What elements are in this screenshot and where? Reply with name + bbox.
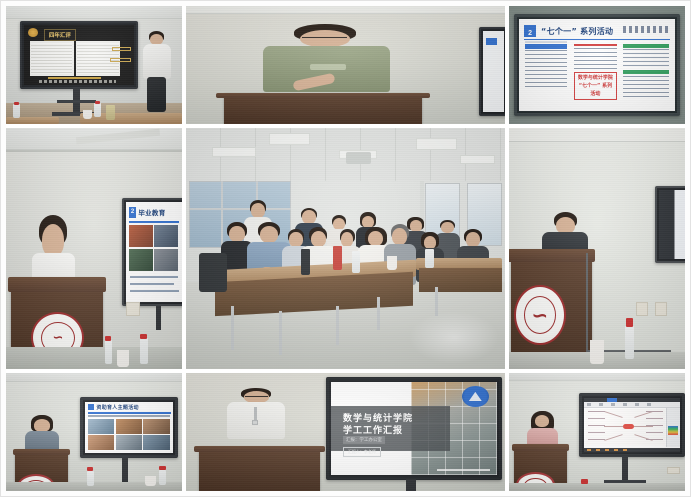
slide-title: “七个一” 系列活动 [541, 26, 613, 37]
projector [346, 152, 372, 164]
slide-col-left-header [525, 44, 567, 49]
wall-outlet [667, 467, 679, 474]
scene-title-slide-and-student: 数学与统计学院 学工工作汇报 汇报：学工办公室 汇报人：李老师 [186, 373, 505, 491]
collage-photo-bottom-left[interactable]: 资助育人主题活动 [6, 373, 182, 491]
slide-col-center-body [574, 48, 618, 70]
app-window-mindmap [584, 398, 680, 452]
tv-screen: 资助育人主题活动 [85, 402, 174, 453]
slide-title: 资助育人主题活动 [96, 404, 138, 411]
slide-side-label-2 [110, 58, 131, 62]
emblem-mark: ∽ [52, 330, 63, 345]
slide-number-chip [88, 404, 94, 410]
slide-number-chip: 2 [524, 25, 536, 37]
activity-photo-1 [88, 419, 114, 434]
tv-display: 2 “七个一” 系列活动 数学与统计学院 [514, 14, 679, 115]
scene-female-speaker [186, 6, 505, 124]
collage-photo-top-left[interactable]: 四年汇评 [6, 6, 182, 124]
lectern [224, 93, 422, 124]
slide-title: 毕业教育 [138, 207, 165, 217]
emblem-mark: ∽ [531, 303, 548, 327]
tv-display: 四年汇评 [20, 21, 138, 88]
head [42, 224, 65, 257]
activity-photo-2 [116, 419, 142, 434]
tv-display: 2 毕业教育 [122, 198, 182, 306]
scene-mindmap-presentation [509, 373, 685, 491]
lanyard [254, 407, 257, 420]
lectern-top [13, 449, 70, 456]
slide-center-callout-text: 数学与统计学院“七个一” 系列活动 [574, 74, 618, 98]
water-bottle [625, 326, 634, 360]
power-cable [586, 253, 588, 354]
slide-bullet-1 [130, 276, 178, 278]
water-bottle-2 [159, 470, 166, 485]
ceiling-light-2 [269, 133, 310, 145]
activity-photo-4 [88, 435, 114, 450]
collage-photo-top-center[interactable] [186, 6, 505, 124]
floor [509, 483, 685, 491]
thermos-2 [333, 246, 343, 270]
app-color-swatches [668, 426, 679, 435]
tv-screen: 2 “七个一” 系列活动 数学与统计学院 [519, 19, 674, 110]
side-display [655, 186, 685, 263]
bottle-cap-2 [140, 334, 146, 339]
side-display-screen [659, 190, 685, 259]
head [34, 419, 50, 431]
lectern-top [216, 93, 430, 98]
tv-screen: 四年汇评 [24, 25, 134, 84]
tv-display: 资助育人主题活动 [80, 397, 179, 458]
slide-col-right-body2 [623, 76, 668, 100]
head [392, 228, 407, 245]
paper-cup [117, 350, 129, 367]
glasses-icon [302, 37, 347, 40]
bottle-cap-1 [87, 467, 93, 471]
collage-photo-middle-left[interactable]: 2 毕业教育 [6, 128, 182, 369]
head [535, 415, 549, 427]
collage-photo-bottom-center[interactable]: 数学与统计学院 学工工作汇报 汇报：学工办公室 汇报人：李老师 [186, 373, 505, 491]
head [341, 232, 354, 247]
lectern-top [194, 446, 325, 452]
collage-photo-center-group[interactable] [186, 128, 505, 369]
college-emblem: ∽ [514, 285, 566, 345]
collage-photo-bottom-right[interactable] [509, 373, 685, 491]
slide-photo-2 [154, 225, 178, 247]
glasses-icon [245, 396, 268, 398]
mindmap-center-node [623, 424, 634, 429]
slide-dark-table: 四年汇评 [24, 25, 134, 84]
tv-stand-pole [406, 479, 416, 491]
side-display-screen [483, 31, 504, 112]
slide-footer-strip [48, 77, 101, 79]
app-toolbar-icons [587, 403, 654, 406]
collage-photo-middle-right[interactable]: ∽ [509, 128, 685, 369]
slide-side-label-1 [112, 47, 131, 51]
bottle-cap [581, 479, 588, 484]
table-leg-2 [279, 311, 282, 354]
head [260, 226, 279, 243]
shirt-print [310, 64, 346, 70]
side-display-sliver [479, 27, 505, 116]
cup-a [387, 256, 397, 270]
wall-outlet-1 [636, 302, 648, 316]
collage-grid: 四年汇评 [6, 6, 685, 491]
slide-col-right-header [623, 44, 668, 48]
head [424, 236, 437, 249]
center-rule-red [574, 44, 618, 46]
ceiling-light-5 [460, 155, 495, 165]
app-statusbar-icons [587, 449, 627, 451]
scene-dark-shirt-speaker: ∽ [509, 128, 685, 369]
lectern-top [8, 277, 107, 292]
table-leg-5 [435, 287, 438, 316]
slide-header-text: 四年汇评 [44, 29, 76, 41]
scene-seven-ones-slide: 2 “七个一” 系列活动 数学与统计学院 [509, 6, 685, 124]
scene-meeting-room-group [186, 128, 505, 369]
lectern: ∽ [511, 249, 592, 370]
head [302, 210, 316, 223]
wall-outlet-2 [655, 302, 667, 316]
head [311, 231, 326, 247]
scene-classroom-dark-slide: 四年汇评 [6, 6, 182, 124]
bottle-cap-2 [95, 101, 101, 104]
scene-activity-photos-slide: 资助育人主题活动 [6, 373, 182, 491]
tv-screen [584, 398, 680, 452]
slide-seven-ones: 2 “七个一” 系列活动 数学与统计学院 [519, 19, 674, 110]
slide-col-right-body1 [623, 49, 668, 67]
mindmap-branch-left-2 [604, 426, 623, 427]
floor [6, 347, 182, 369]
slide-col-right-header2 [623, 70, 668, 74]
tv-display: 数学与统计学院 学工工作汇报 汇报：学工办公室 汇报人：李老师 [326, 377, 501, 481]
lectern [199, 446, 320, 491]
mindmap-labels-right [646, 411, 663, 442]
paper-cup [83, 110, 92, 119]
tv-mount [156, 306, 161, 330]
slide-number-chip: 2 [129, 207, 136, 218]
slide-footer-en [437, 469, 490, 471]
torso-white-shirt [143, 44, 171, 79]
ceiling-light-4 [416, 138, 457, 150]
activity-photo-3 [143, 419, 170, 434]
ceiling [509, 373, 685, 381]
water-bottle-2 [140, 338, 148, 365]
ceiling [6, 6, 182, 19]
bottle-cap-1 [105, 336, 111, 341]
bottle-cap-1 [14, 102, 20, 105]
bottle-cap-2 [159, 466, 165, 470]
head [251, 203, 265, 218]
badge [252, 420, 259, 425]
conference-table-right-panel [419, 268, 502, 292]
ceiling [509, 128, 685, 142]
slide-col-left-note [525, 41, 567, 43]
tv-stand-pole [122, 458, 128, 484]
water-bottle-1 [13, 104, 20, 118]
slide-caption [88, 415, 169, 417]
slide-photo-3 [129, 249, 152, 271]
water-bottle-b [425, 249, 433, 268]
water-bottle-a [352, 251, 360, 273]
table-leg-3 [336, 306, 339, 345]
floor-reflection [409, 311, 498, 364]
floor [6, 482, 182, 491]
water-bottle-2 [94, 103, 101, 117]
university-logo [623, 26, 670, 33]
paper-cup [590, 340, 604, 364]
mindmap-labels-left [588, 411, 605, 442]
water-bottle-1 [87, 471, 94, 486]
ceiling [6, 373, 182, 382]
title-underline [129, 221, 179, 223]
slide-presenter-tag: 汇报人：李老师 [343, 447, 381, 457]
activity-photo-6 [143, 435, 170, 450]
slide-col-left-body [525, 50, 567, 88]
slide-title-line1: 数学与统计学院 [343, 411, 413, 424]
tv-display [579, 393, 685, 457]
slide-footer-text [39, 80, 116, 83]
table-leg-4 [377, 297, 380, 331]
tv-screen: 2 毕业教育 [126, 202, 181, 302]
slide-photo-4 [154, 249, 178, 271]
ceiling [186, 6, 505, 14]
bottle-cap [626, 318, 634, 326]
window-transom [189, 208, 291, 210]
slide-title-line2: 学工工作汇报 [343, 423, 403, 436]
scene-graduation-education: 2 毕业教育 [6, 128, 182, 369]
ceiling-beam [6, 150, 182, 152]
collage-frame: 四年汇评 [0, 0, 691, 497]
head [466, 232, 481, 247]
activity-photo-5 [116, 435, 142, 450]
table-leg-1 [231, 306, 234, 349]
thermos-1 [301, 249, 311, 276]
tv-stand-pole [622, 457, 628, 483]
ceiling-light-1 [212, 147, 257, 157]
slide-photo-1 [129, 225, 152, 247]
slide-bullet-2 [130, 283, 174, 285]
lectern-top [512, 444, 569, 452]
water-bottle-1 [105, 340, 112, 364]
tv-screen: 数学与统计学院 学工工作汇报 汇报：学工办公室 汇报人：李老师 [331, 382, 496, 476]
slide-number-chip [486, 38, 497, 45]
head [229, 226, 244, 242]
slide-funding-activities: 资助育人主题活动 [85, 402, 174, 453]
tv-stand-shelf [57, 100, 96, 103]
paper-cup [145, 476, 156, 487]
collage-photo-top-right[interactable]: 2 “七个一” 系列活动 数学与统计学院 [509, 6, 685, 124]
slide-subtitle: 汇报：学工办公室 [343, 436, 385, 444]
person-presenter [138, 30, 177, 113]
slide-title-report: 数学与统计学院 学工工作汇报 汇报：学工办公室 汇报人：李老师 [331, 382, 496, 476]
chair-left [199, 253, 228, 292]
slide-bullet-3 [130, 290, 179, 292]
legs-dark-trousers [147, 77, 166, 112]
wall-outlet [126, 302, 140, 316]
slide-graduation: 2 毕业教育 [126, 202, 181, 302]
lectern-top [509, 249, 595, 262]
person-student-speaker [227, 388, 284, 449]
glass-bottle [106, 105, 115, 120]
